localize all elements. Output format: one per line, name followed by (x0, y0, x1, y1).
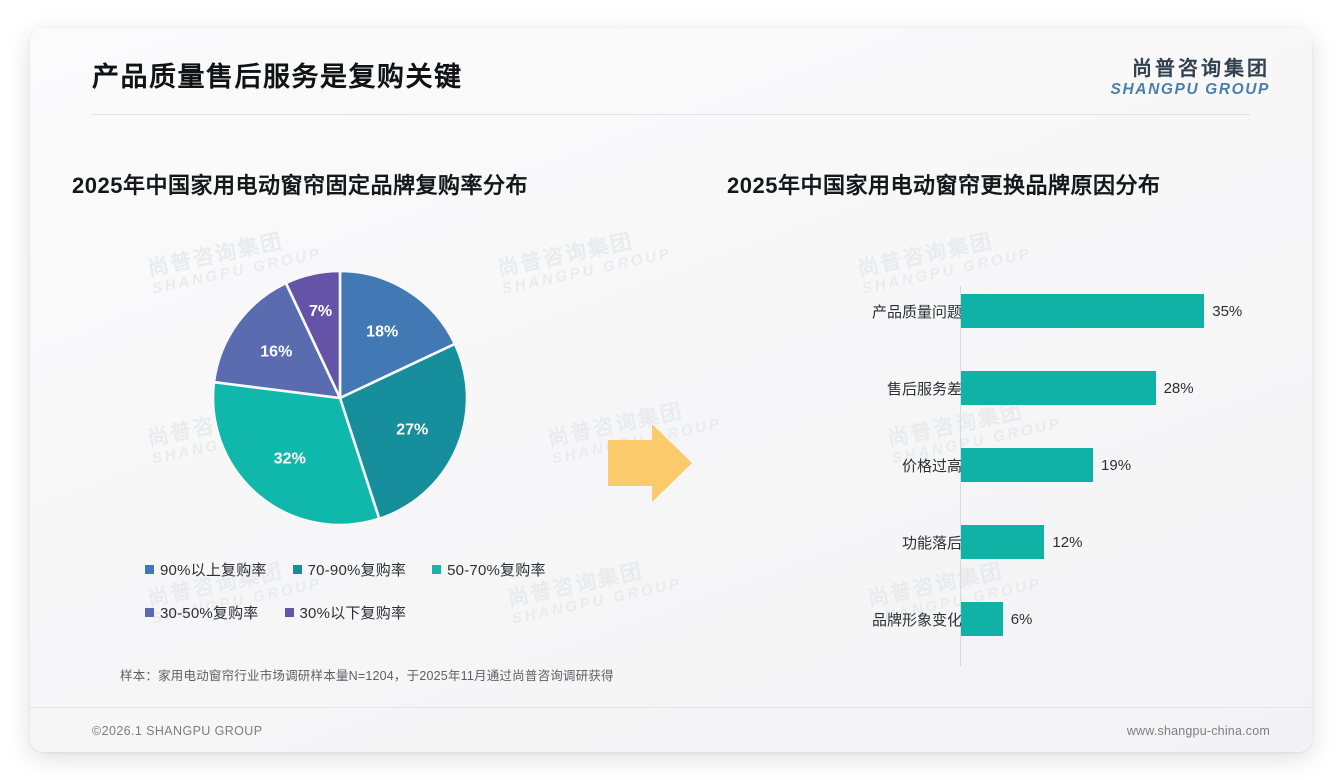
bar-chart-title: 2025年中国家用电动窗帘更换品牌原因分布 (727, 168, 1160, 200)
logo-cn-text: 尚普咨询集团 (1111, 58, 1270, 81)
pie-legend-item[interactable]: 50-70%复购率 (432, 559, 546, 580)
pie-legend-item[interactable]: 30%以下复购率 (285, 602, 407, 623)
bar-value-label: 6% (1011, 602, 1033, 636)
pie-legend: 90%以上复购率70-90%复购率50-70%复购率30-50%复购率30%以下… (145, 559, 615, 623)
legend-swatch (285, 608, 294, 617)
bar-value-label: 35% (1212, 294, 1242, 328)
pie-chart-title: 2025年中国家用电动窗帘固定品牌复购率分布 (72, 168, 528, 200)
bar-fill[interactable] (961, 525, 1044, 559)
bar-fill[interactable] (961, 602, 1003, 636)
pie-legend-item[interactable]: 30-50%复购率 (145, 602, 259, 623)
footer-website: www.shangpu-china.com (1127, 724, 1270, 738)
legend-swatch (432, 565, 441, 574)
legend-label: 30-50%复购率 (160, 602, 259, 623)
pie-slice-label: 18% (366, 324, 398, 341)
bar-chart-row: 品牌形象变化6% (720, 602, 1280, 636)
source-footnote: 样本：家用电动窗帘行业市场调研样本量N=1204，于2025年11月通过尚普咨询… (120, 665, 614, 684)
legend-swatch (145, 608, 154, 617)
legend-label: 90%以上复购率 (160, 559, 267, 580)
bar-fill[interactable] (961, 371, 1156, 405)
bar-category-label: 产品质量问题 (872, 294, 962, 328)
bar-fill[interactable] (961, 448, 1093, 482)
footer-copyright: ©2026.1 SHANGPU GROUP (92, 724, 262, 738)
bar-fill[interactable] (961, 294, 1204, 328)
bar-value-label: 12% (1052, 525, 1082, 559)
bar-category-label: 功能落后 (902, 525, 962, 559)
pie-slice-label: 27% (396, 421, 428, 438)
header-divider (92, 114, 1250, 115)
bar-chart-row: 售后服务差28% (720, 371, 1280, 405)
bar-category-label: 售后服务差 (887, 371, 962, 405)
pie-chart-svg: 18%27%32%16%7% (205, 263, 475, 533)
legend-label: 30%以下复购率 (300, 602, 407, 623)
logo-en-text: SHANGPU GROUP (1111, 81, 1270, 100)
footer-divider (30, 707, 1312, 708)
pie-slice-label: 7% (309, 303, 332, 320)
pie-chart: 18%27%32%16%7% 90%以上复购率70-90%复购率50-70%复购… (70, 253, 670, 673)
right-arrow-icon (604, 422, 696, 504)
bar-category-label: 品牌形象变化 (872, 602, 962, 636)
bar-value-label: 19% (1101, 448, 1131, 482)
bar-chart-row: 价格过高19% (720, 448, 1280, 482)
legend-swatch (145, 565, 154, 574)
bar-chart-row: 产品质量问题35% (720, 294, 1280, 328)
bar-chart-row: 功能落后12% (720, 525, 1280, 559)
bar-category-label: 价格过高 (902, 448, 962, 482)
pie-slice-label: 32% (274, 451, 306, 468)
slide-card: 尚普咨询集团 SHANGPU GROUP 尚普咨询集团 SHANGPU GROU… (30, 28, 1312, 752)
pie-legend-item[interactable]: 90%以上复购率 (145, 559, 267, 580)
bar-chart: 产品质量问题35%售后服务差28%价格过高19%功能落后12%品牌形象变化6% (720, 258, 1280, 688)
page-title: 产品质量售后服务是复购关键 (92, 55, 463, 94)
legend-swatch (293, 565, 302, 574)
legend-label: 50-70%复购率 (447, 559, 546, 580)
pie-legend-item[interactable]: 70-90%复购率 (293, 559, 407, 580)
brand-logo: 尚普咨询集团 SHANGPU GROUP (1111, 58, 1270, 100)
bar-value-label: 28% (1164, 371, 1194, 405)
pie-slices (213, 271, 467, 525)
legend-label: 70-90%复购率 (308, 559, 407, 580)
pie-slice-label: 16% (260, 344, 292, 361)
header: 产品质量售后服务是复购关键 尚普咨询集团 SHANGPU GROUP (30, 28, 1312, 116)
